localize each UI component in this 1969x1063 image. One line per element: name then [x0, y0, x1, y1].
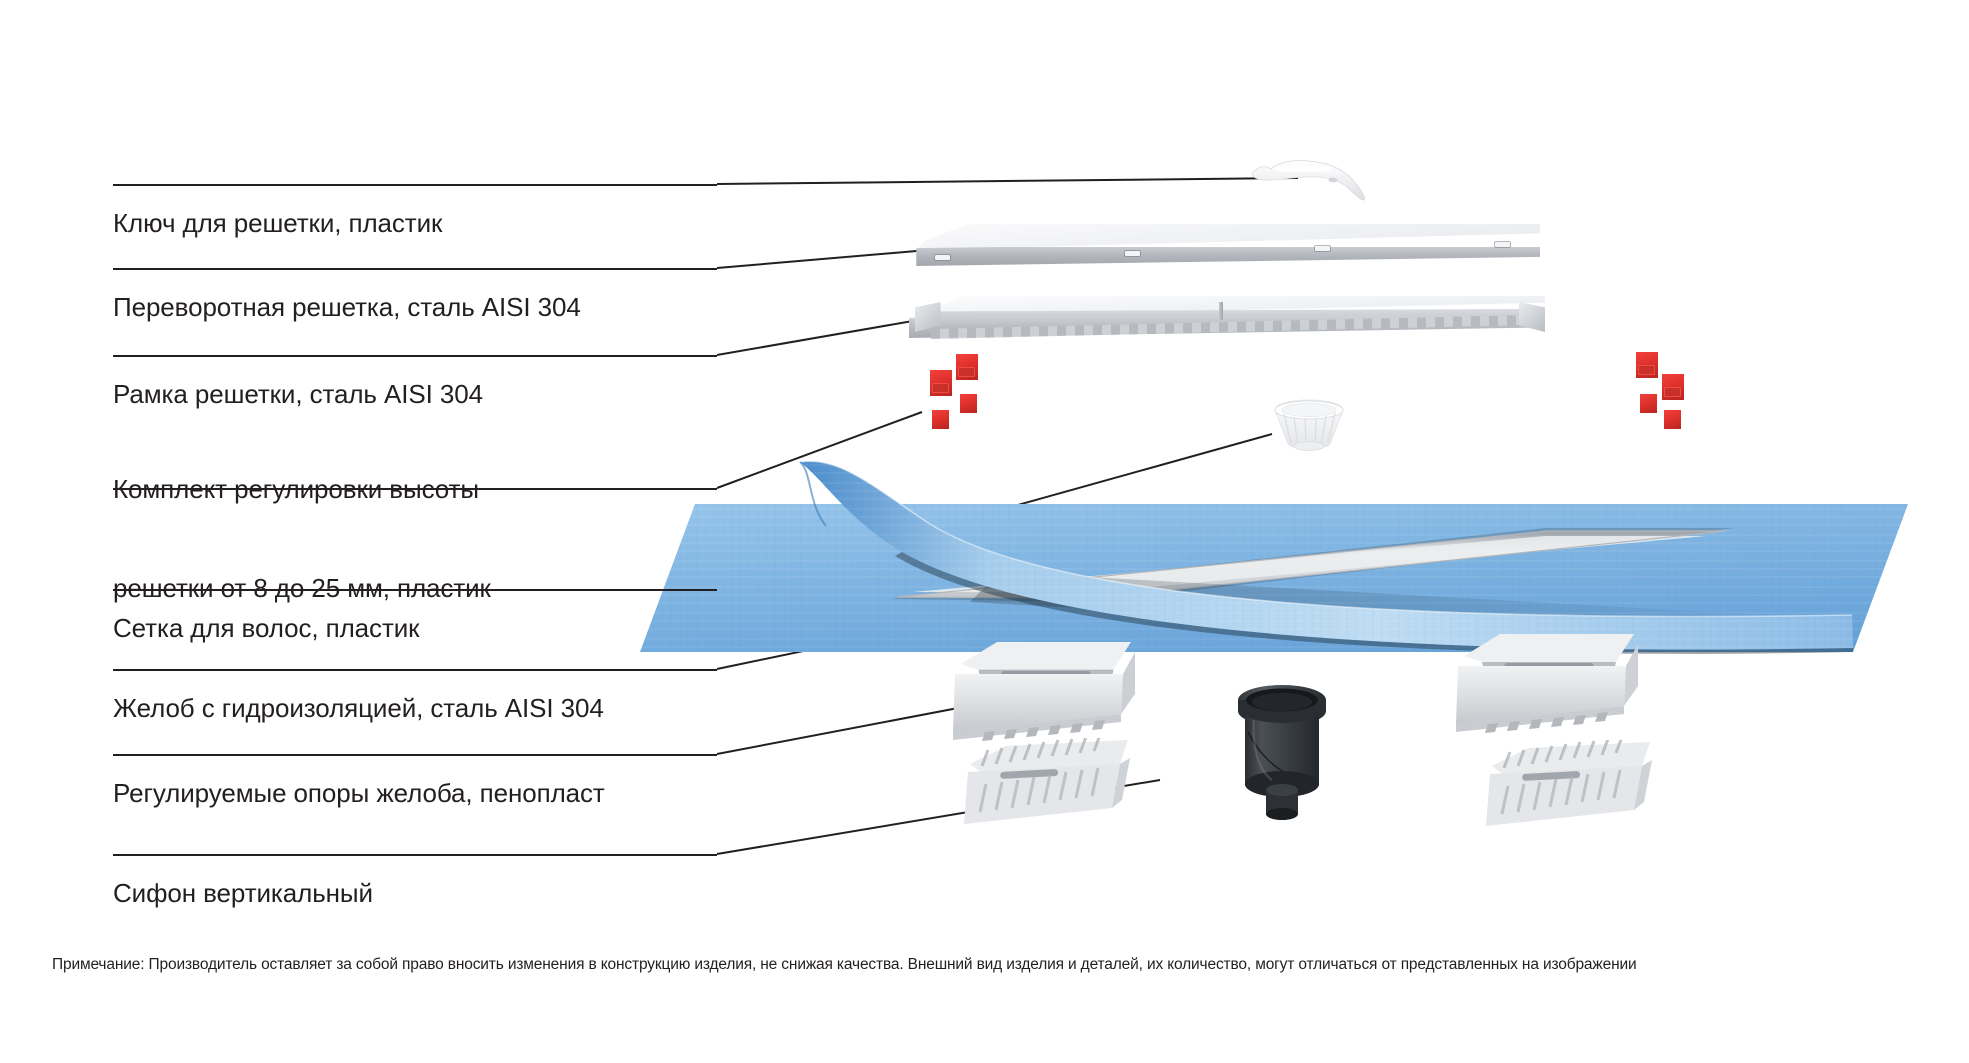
disclaimer-note: Примечание: Производитель оставляет за с…: [52, 956, 1637, 974]
label-rule-height-adjustment-kit: [113, 488, 717, 490]
height-clip: [932, 410, 949, 429]
label-siphon-line-1: Сифон вертикальный: [113, 877, 373, 910]
vertical-siphon-part: [1228, 680, 1336, 822]
height-clip: [930, 370, 952, 396]
height-clip: [960, 394, 977, 413]
label-rule-plastic-key: [113, 184, 717, 186]
grate-slot: [1495, 242, 1510, 247]
reversible-grate-part: [915, 224, 1540, 268]
label-rule-siphon: [113, 854, 717, 856]
label-rule-channel: [113, 669, 717, 671]
foam-support-left-upper: [945, 636, 1145, 746]
hair-strainer-part: [1272, 398, 1346, 454]
height-clip: [956, 354, 978, 380]
foam-support-right-lower: [1482, 740, 1662, 836]
grate-slot: [1315, 246, 1330, 251]
height-clips-left-group: [912, 352, 1032, 462]
grate-slot: [935, 255, 950, 260]
height-clip: [1662, 374, 1684, 400]
height-clip: [1664, 410, 1681, 429]
label-rule-grate-frame: [113, 355, 717, 357]
leader-key: [717, 178, 1298, 184]
label-rule-supports: [113, 754, 717, 756]
leader-grate: [717, 250, 928, 268]
foam-support-right-upper: [1448, 628, 1648, 738]
diagram-canvas: Ключ для решетки, пластик Переворотная р…: [0, 0, 1969, 1063]
foam-support-left-lower: [960, 738, 1140, 834]
grate-slot: [1125, 251, 1140, 256]
plastic-key-part: [1245, 152, 1380, 202]
label-siphon: Сифон вертикальный: [113, 810, 373, 976]
height-clip: [1640, 394, 1657, 413]
label-supports-line-1: Регулируемые опоры желоба, пенопласт: [113, 777, 605, 810]
height-clip: [1636, 352, 1658, 378]
label-rule-reversible-grate: [113, 268, 717, 270]
grate-side-face: [916, 247, 1540, 266]
grate-frame-part: [905, 296, 1545, 356]
label-rule-hair-strainer: [113, 589, 717, 591]
frame-center-post: [1219, 302, 1223, 320]
leader-frame: [717, 318, 930, 355]
height-clips-right-group: [1602, 352, 1732, 462]
waterproofing-membrane-part: [640, 452, 1940, 712]
